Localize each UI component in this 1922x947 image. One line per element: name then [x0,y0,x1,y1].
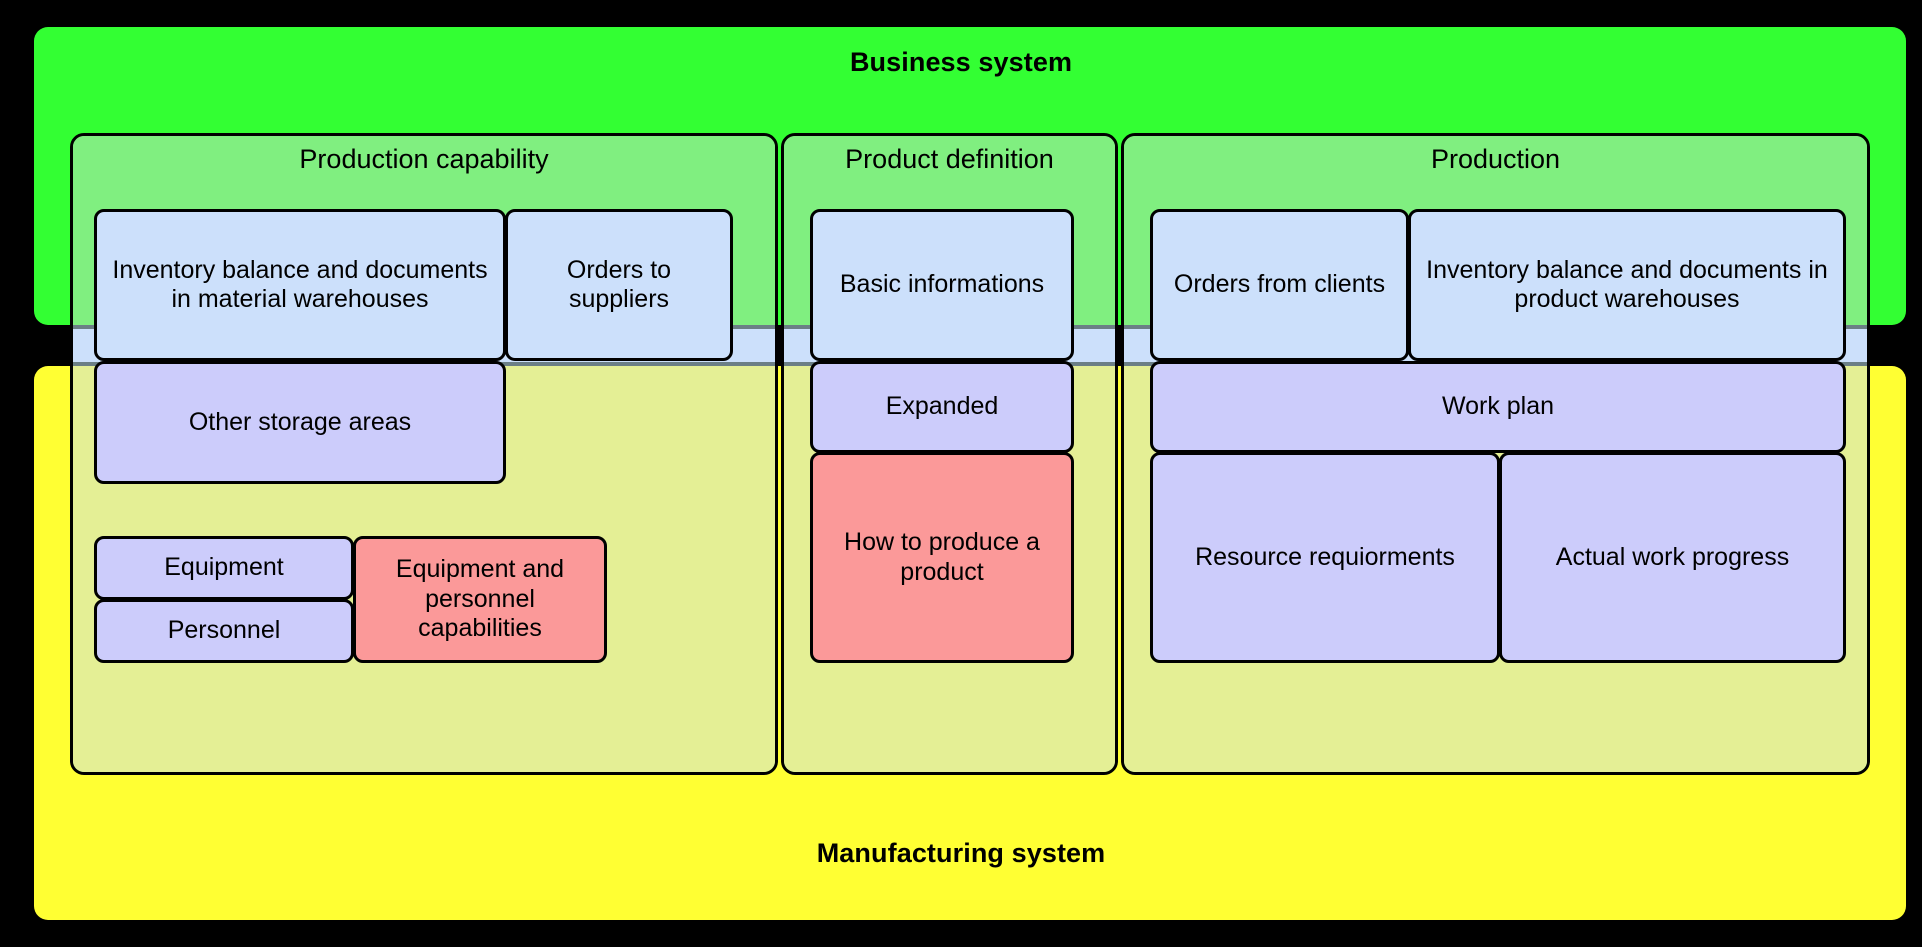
box-orders-to-suppliers[interactable]: Orders to suppliers [505,209,733,361]
box-how-to-produce-a-product[interactable]: How to produce a product [810,452,1074,663]
column-production: Production Orders from clients Inventory… [1121,133,1870,775]
business-system-title: Business system [0,47,1922,78]
box-inventory-balance-material-warehouses[interactable]: Inventory balance and documents in mater… [94,209,506,361]
column-production-capability: Production capability Inventory balance … [70,133,778,775]
box-orders-from-clients[interactable]: Orders from clients [1150,209,1409,361]
column-title-production: Production [1124,144,1867,175]
box-expanded[interactable]: Expanded [810,361,1074,453]
box-equipment[interactable]: Equipment [94,536,354,600]
box-equipment-and-personnel-capabilities[interactable]: Equipment and personnel capabilities [353,536,607,663]
column-title-production-capability: Production capability [73,144,775,175]
box-personnel[interactable]: Personnel [94,599,354,663]
column-product-definition: Product definition Basic informations Ex… [781,133,1118,775]
manufacturing-system-title: Manufacturing system [0,838,1922,869]
box-resource-requiorments[interactable]: Resource requiorments [1150,452,1500,663]
box-work-plan[interactable]: Work plan [1150,361,1846,453]
box-inventory-balance-product-warehouses[interactable]: Inventory balance and documents in produ… [1408,209,1846,361]
box-other-storage-areas[interactable]: Other storage areas [94,361,506,484]
box-actual-work-progress[interactable]: Actual work progress [1499,452,1846,663]
column-title-product-definition: Product definition [784,144,1115,175]
box-basic-informations[interactable]: Basic informations [810,209,1074,361]
diagram-canvas: Production capability Inventory balance … [0,0,1922,947]
